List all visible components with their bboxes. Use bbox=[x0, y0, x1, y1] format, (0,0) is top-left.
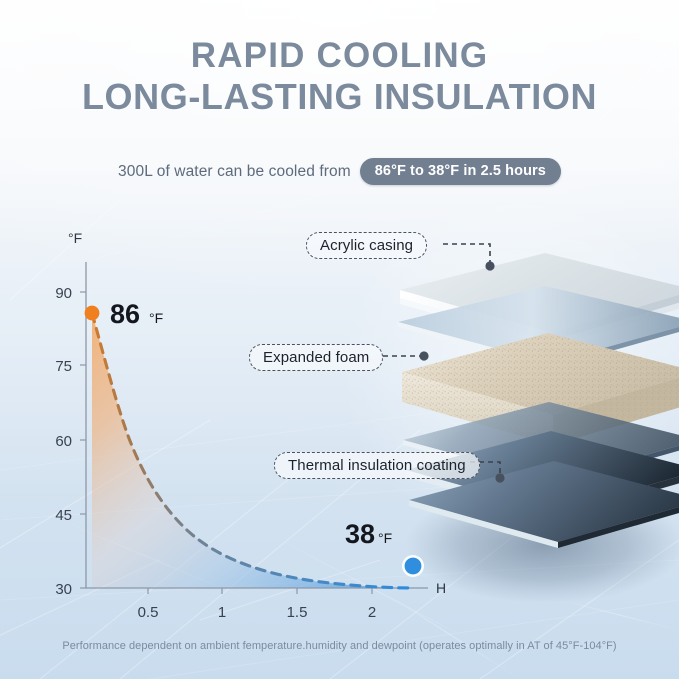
chart-marker-end bbox=[402, 555, 424, 577]
y-tick-label-90: 90 bbox=[55, 285, 72, 302]
start-value: 86 bbox=[110, 299, 140, 329]
chart-marker-start bbox=[85, 306, 100, 321]
promo-graphic: RAPID COOLING LONG-LASTING INSULATION 30… bbox=[0, 0, 679, 679]
callout-foam-label: Expanded foam bbox=[263, 349, 369, 366]
end-unit: °F bbox=[378, 530, 392, 546]
x-tick-label-1-5: 1.5 bbox=[287, 604, 308, 621]
x-tick-label-2: 2 bbox=[368, 604, 376, 621]
y-tick-label-75: 75 bbox=[55, 358, 72, 375]
end-value: 38 bbox=[345, 519, 375, 549]
footer-disclaimer: Performance dependent on ambient fempera… bbox=[0, 640, 679, 652]
callout-expanded-foam: Expanded foam bbox=[249, 344, 383, 371]
callout-thermal-label: Thermal insulation coating bbox=[288, 457, 466, 474]
y-tick-label-60: 60 bbox=[55, 433, 72, 450]
x-tick-label-0-5: 0.5 bbox=[138, 604, 159, 621]
chart-x-ticks bbox=[148, 588, 372, 594]
callout-acrylic-label: Acrylic casing bbox=[320, 237, 413, 254]
y-axis-label: °F bbox=[68, 230, 82, 246]
x-axis-label: H bbox=[436, 580, 446, 596]
chart-y-ticks bbox=[80, 292, 86, 588]
y-tick-label-30: 30 bbox=[55, 581, 72, 598]
x-tick-label-1: 1 bbox=[218, 604, 226, 621]
callout-thermal-insulation: Thermal insulation coating bbox=[274, 452, 480, 479]
start-unit: °F bbox=[149, 310, 163, 326]
cooling-curve-chart: 90 75 60 45 30 0.5 1 1.5 2 °F H 86 °F 38… bbox=[0, 0, 679, 679]
callout-acrylic-casing: Acrylic casing bbox=[306, 232, 427, 259]
y-tick-label-45: 45 bbox=[55, 507, 72, 524]
